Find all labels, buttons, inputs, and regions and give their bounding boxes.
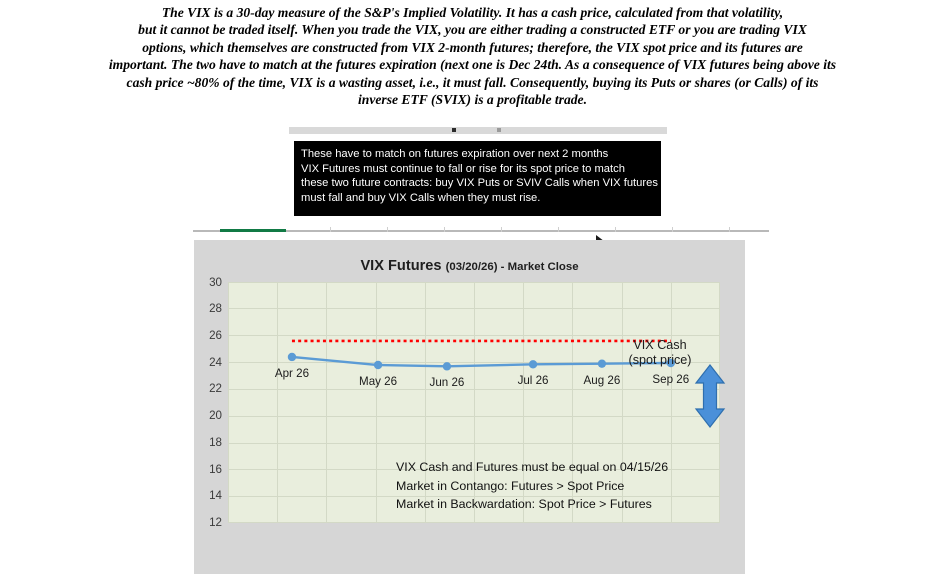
intro-line: cash price ~80% of the time, VIX is a wa… bbox=[6, 74, 939, 91]
y-axis-tick: 24 bbox=[194, 356, 222, 369]
callout-line: these two future contracts: buy VIX Puts… bbox=[301, 176, 654, 191]
intro-line: The VIX is a 30-day measure of the S&P's… bbox=[6, 4, 939, 21]
series-point-label: May 26 bbox=[359, 375, 397, 388]
rule-notch bbox=[387, 227, 388, 232]
y-axis-tick: 26 bbox=[194, 329, 222, 342]
active-tab-indicator[interactable] bbox=[220, 229, 286, 232]
series-point-label: Aug 26 bbox=[584, 374, 621, 387]
chart-title: VIX Futures (03/20/26) - Market Close bbox=[194, 258, 745, 274]
y-axis-tick: 30 bbox=[194, 276, 222, 289]
y-axis-tick: 12 bbox=[194, 516, 222, 529]
series-point-label: Apr 26 bbox=[275, 367, 309, 380]
strip-marker-secondary-icon bbox=[497, 128, 501, 132]
y-axis-tick: 14 bbox=[194, 489, 222, 502]
callout-line: VIX Futures must continue to fall or ris… bbox=[301, 162, 654, 177]
toolbar-strip bbox=[289, 127, 667, 134]
callout-box: These have to match on futures expiratio… bbox=[294, 141, 661, 216]
equality-note-line: Market in Contango: Futures > Spot Price bbox=[396, 477, 668, 496]
rule-notch bbox=[615, 227, 616, 232]
rule-notch bbox=[672, 227, 673, 232]
intro-line: options, which themselves are constructe… bbox=[6, 39, 939, 56]
intro-line: but it cannot be traded itself. When you… bbox=[6, 21, 939, 38]
series-point-label: Jul 26 bbox=[518, 374, 549, 387]
y-axis-tick: 22 bbox=[194, 382, 222, 395]
y-axis-tick: 18 bbox=[194, 436, 222, 449]
y-axis-tick: 20 bbox=[194, 409, 222, 422]
vix-cash-label-line: VIX Cash bbox=[600, 338, 720, 353]
rule-notch bbox=[330, 227, 331, 232]
rule-notch bbox=[501, 227, 502, 232]
rule-notch bbox=[729, 227, 730, 232]
rule-notch bbox=[558, 227, 559, 232]
spread-double-arrow-icon bbox=[693, 364, 727, 428]
intro-paragraph: The VIX is a 30-day measure of the S&P's… bbox=[0, 4, 945, 108]
series-point-label: Jun 26 bbox=[430, 376, 465, 389]
equality-note: VIX Cash and Futures must be equal on 04… bbox=[396, 458, 668, 514]
plot-area: VIX Cash (spot price) VIX Cash and Futur… bbox=[228, 282, 720, 523]
equality-note-line: VIX Cash and Futures must be equal on 04… bbox=[396, 458, 668, 477]
callout-line: These have to match on futures expiratio… bbox=[301, 147, 654, 162]
callout-line: must fall and buy VIX Calls when they mu… bbox=[301, 191, 654, 206]
y-axis-tick: 28 bbox=[194, 302, 222, 315]
intro-line: important. The two have to match at the … bbox=[6, 56, 939, 73]
rule-notch bbox=[444, 227, 445, 232]
strip-marker-icon bbox=[452, 128, 456, 132]
chart-title-main: VIX Futures bbox=[360, 258, 441, 274]
y-axis-tick: 16 bbox=[194, 463, 222, 476]
chart-panel: VIX Futures (03/20/26) - Market Close 30… bbox=[194, 240, 745, 577]
chart-title-suffix: (03/20/26) - Market Close bbox=[446, 261, 579, 273]
equality-note-line: Market in Backwardation: Spot Price > Fu… bbox=[396, 495, 668, 514]
intro-line: inverse ETF (SVIX) is a profitable trade… bbox=[6, 91, 939, 108]
series-point-label: Sep 26 bbox=[652, 373, 689, 386]
